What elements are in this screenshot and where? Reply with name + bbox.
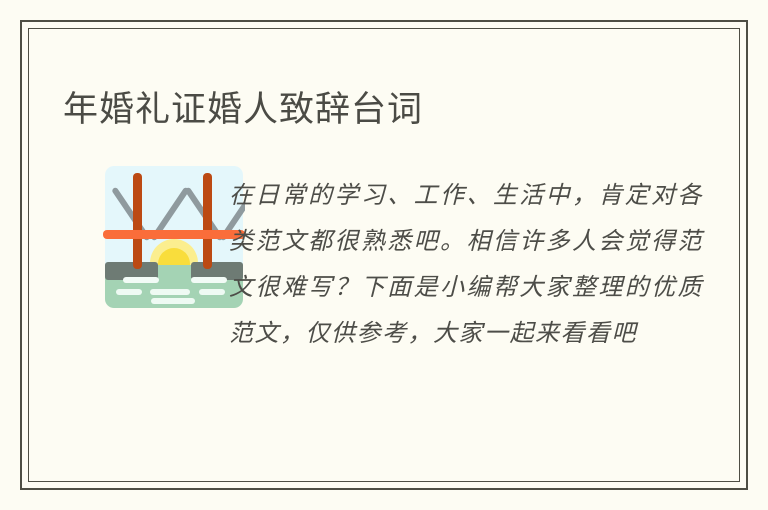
bridge-tower-left [133,173,142,269]
bridge-illustration-icon [103,166,245,308]
bridge-deck [103,230,245,239]
bridge-tower-right [203,173,212,269]
pier-highlight-left [123,277,159,283]
pier-highlight-right [191,277,227,283]
water-ripple [150,289,190,295]
water-ripple [116,289,142,295]
article-intro-paragraph: 在日常的学习、工作、生活中，肯定对各类范文都很熟悉吧。相信许多人会觉得范文很难写… [229,172,703,356]
article-container: 年婚礼证婚人致辞台词 [28,28,740,482]
page-title: 年婚礼证婚人致辞台词 [63,89,423,131]
article-thumbnail [103,166,245,308]
water-ripple [199,289,225,295]
document-page: 年婚礼证婚人致辞台词 [0,0,768,510]
water-ripple [151,298,195,304]
